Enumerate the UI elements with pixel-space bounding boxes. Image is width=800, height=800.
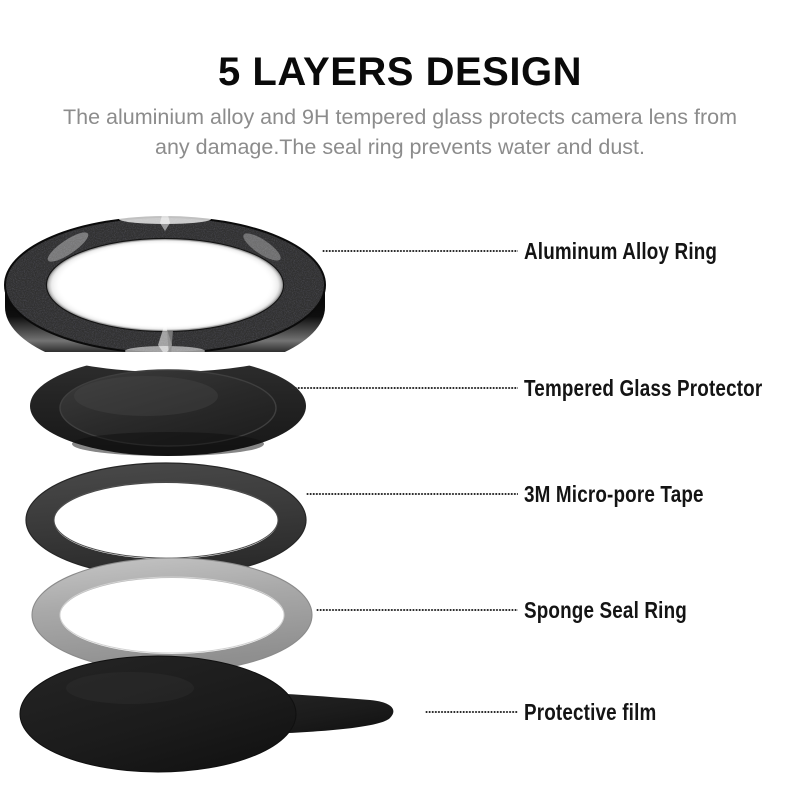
label-sponge-seal-ring: Sponge Seal Ring [524, 597, 687, 624]
label-aluminum-alloy-ring: Aluminum Alloy Ring [524, 238, 717, 265]
leader-line-protective-film [425, 711, 518, 713]
layer-tempered-glass-protector [28, 352, 308, 460]
label-protective-film: Protective film [524, 699, 656, 726]
tempered-glass-graphic [28, 352, 308, 460]
label-3m-micropore-tape: 3M Micro-pore Tape [524, 481, 704, 508]
product-infographic: 5 LAYERS DESIGN The aluminium alloy and … [0, 0, 800, 800]
leader-line-3m-micropore-tape [306, 493, 518, 495]
leader-line-aluminum-alloy-ring [322, 250, 518, 252]
layer-protective-film [18, 648, 410, 780]
protective-film-graphic [18, 648, 410, 780]
leader-line-tempered-glass-protector [291, 387, 518, 389]
label-tempered-glass-protector: Tempered Glass Protector [524, 375, 762, 402]
leader-line-sponge-seal-ring [316, 609, 518, 611]
